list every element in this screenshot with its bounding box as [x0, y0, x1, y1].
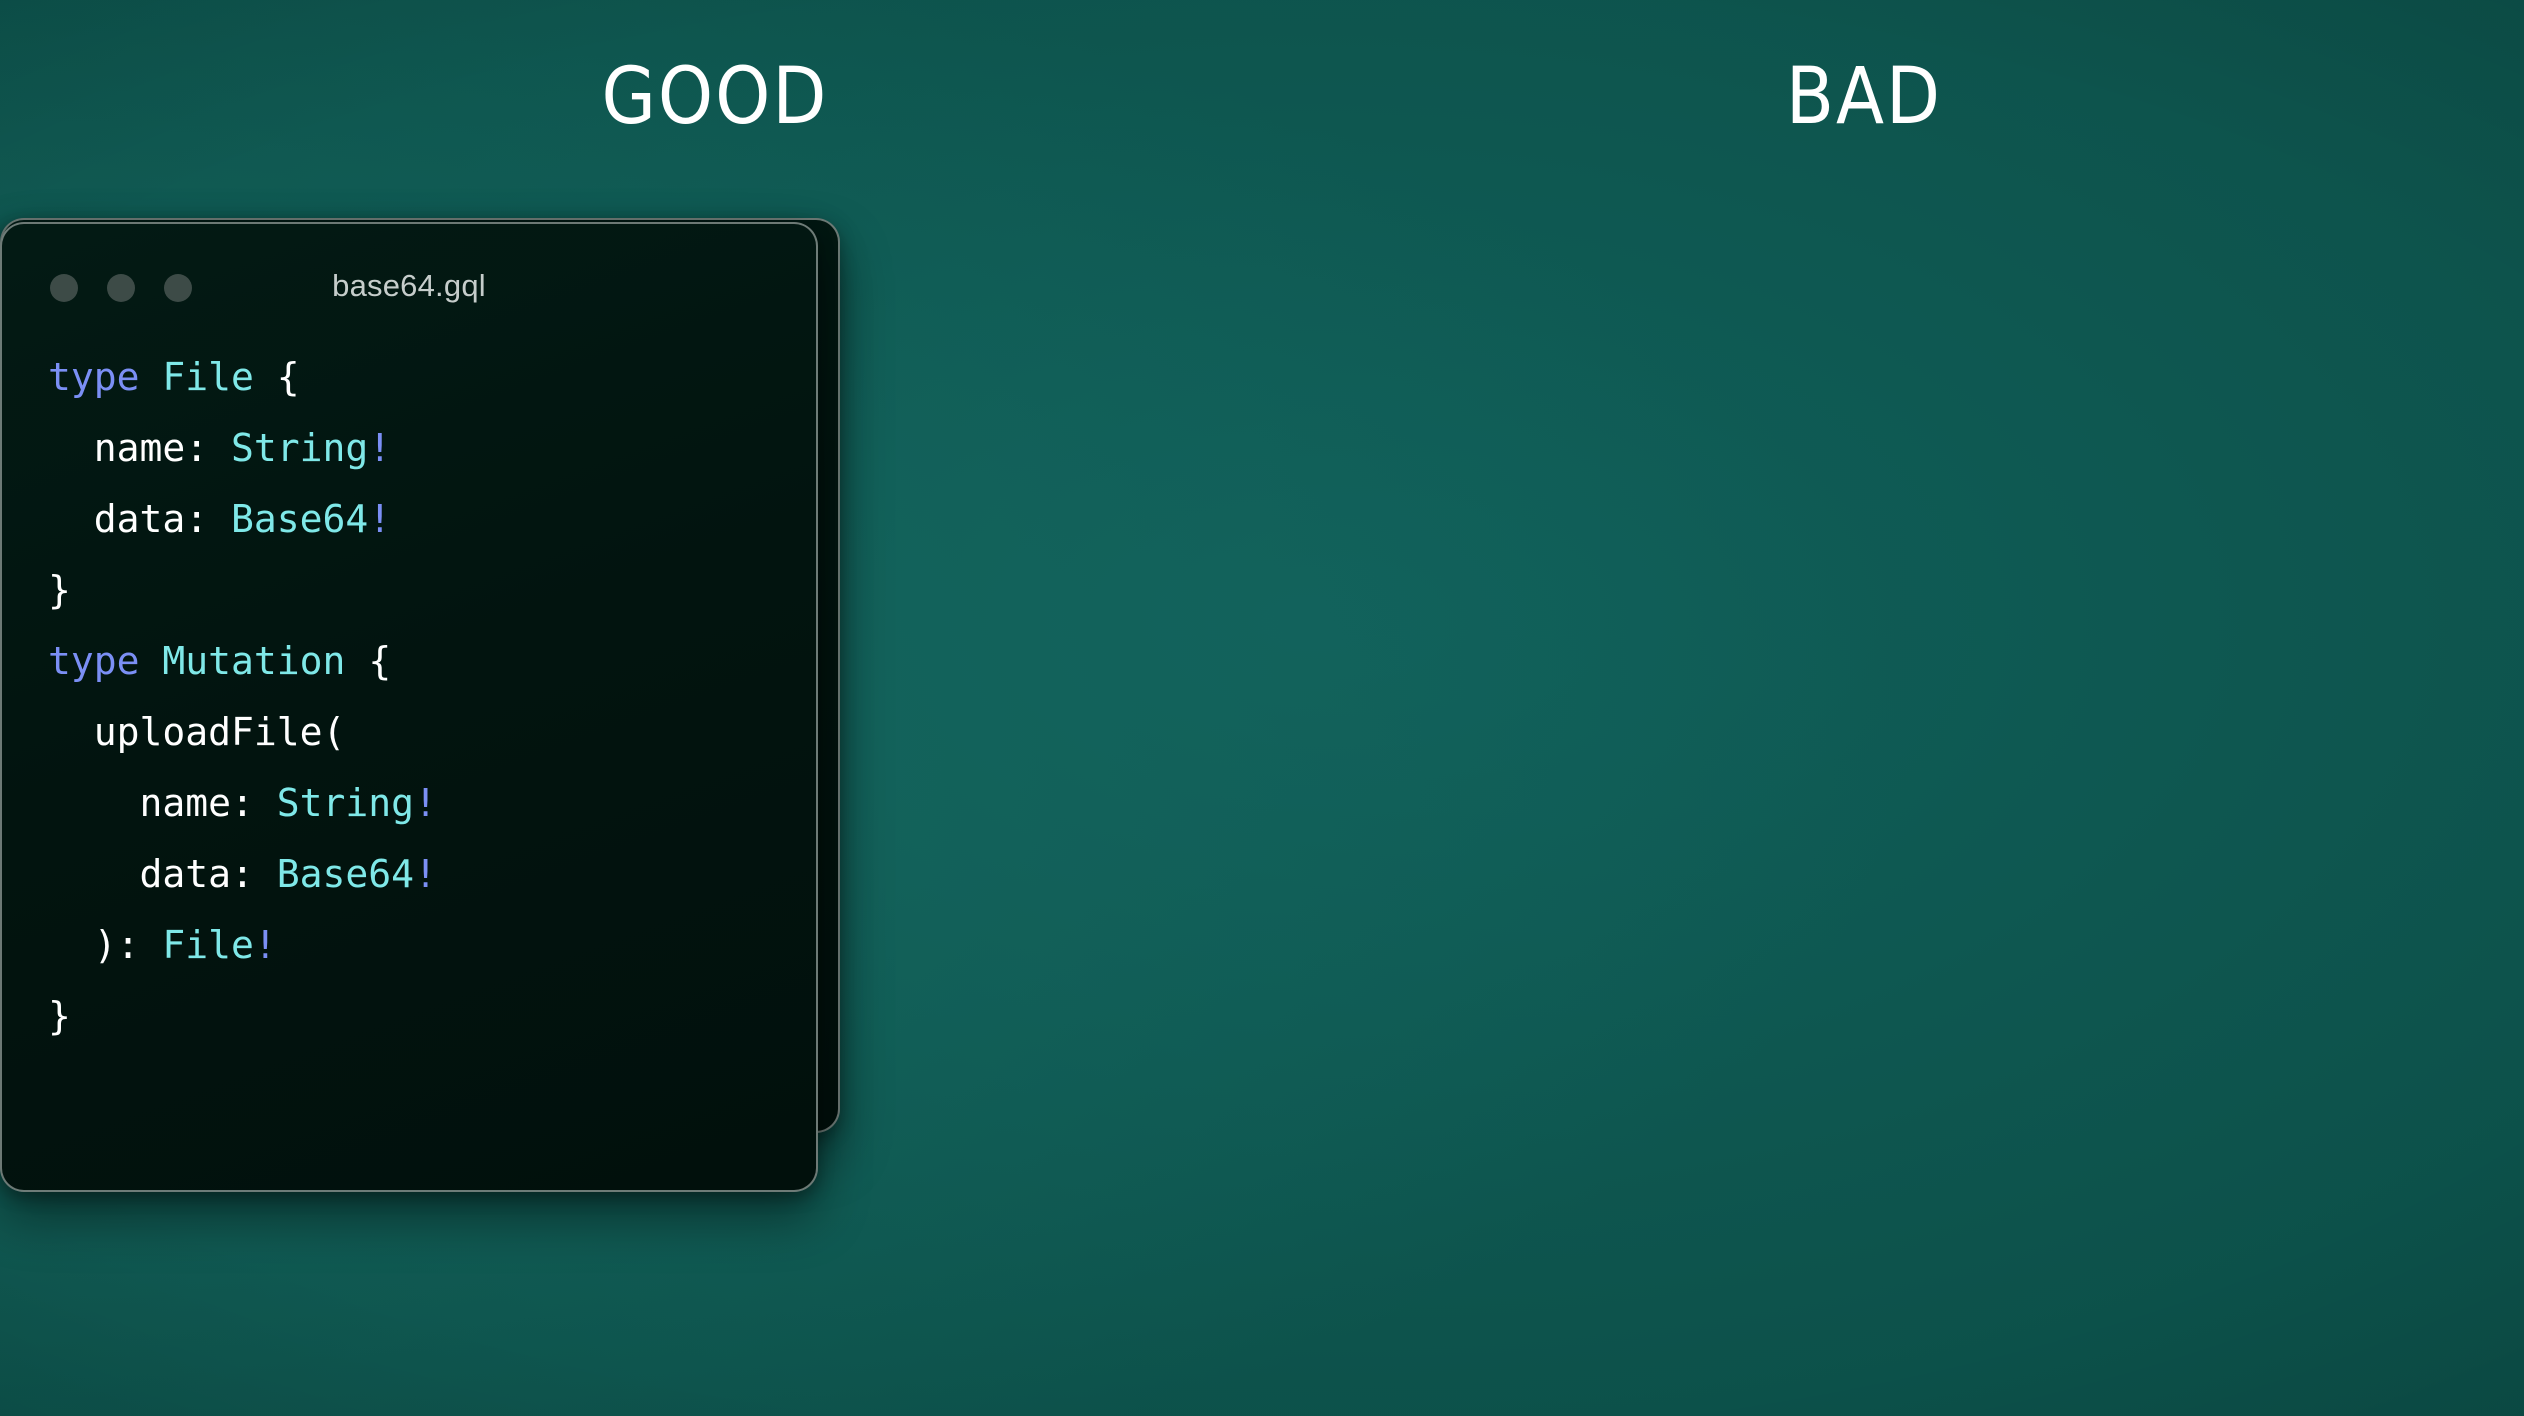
code-line: name: String! [48, 413, 796, 484]
code-token-plain: name: [48, 781, 254, 825]
code-token-type: Base64 [231, 497, 368, 541]
filename-label-bad: base64.gql [2, 268, 816, 304]
code-line: data: Base64! [48, 839, 796, 910]
code-token-plain [254, 781, 277, 825]
code-block-bad[interactable]: type File { name: String! data: Base64!}… [2, 342, 816, 1052]
code-token-plain: name: [48, 426, 208, 470]
code-token-punct: } [48, 994, 71, 1038]
code-token-type: Mutation [162, 639, 345, 683]
code-token-keyword: type [48, 639, 140, 683]
code-token-punct: { [254, 355, 300, 399]
code-token-punct: { [345, 639, 391, 683]
code-token-plain [140, 639, 163, 683]
code-token-bang: ! [254, 923, 277, 967]
code-token-bang: ! [414, 852, 437, 896]
code-token-punct: } [48, 568, 71, 612]
code-window-bad: base64.gql type File { name: String! dat… [0, 222, 818, 1192]
code-token-keyword: type [48, 355, 140, 399]
column-heading-good: GOOD [295, 58, 1135, 136]
code-token-plain [140, 355, 163, 399]
code-line: ): File! [48, 910, 796, 981]
code-token-type: Base64 [277, 852, 414, 896]
code-line: } [48, 981, 796, 1052]
code-token-plain [254, 852, 277, 896]
code-token-bang: ! [414, 781, 437, 825]
code-token-plain [208, 426, 231, 470]
code-token-plain: uploadFile( [48, 710, 345, 754]
code-token-type: String [277, 781, 414, 825]
code-line: type File { [48, 342, 796, 413]
code-token-type: File [162, 923, 254, 967]
titlebar-bad: base64.gql [2, 224, 816, 342]
code-token-plain [208, 497, 231, 541]
code-token-type: String [231, 426, 368, 470]
code-token-plain [140, 923, 163, 967]
code-token-plain: data: [48, 497, 208, 541]
code-token-type: File [162, 355, 254, 399]
column-heading-bad: BAD [1455, 58, 2273, 136]
code-line: uploadFile( [48, 697, 796, 768]
code-token-bang: ! [368, 497, 391, 541]
code-line: } [48, 555, 796, 626]
code-token-plain: data: [48, 852, 254, 896]
code-line: data: Base64! [48, 484, 796, 555]
code-line: type Mutation { [48, 626, 796, 697]
code-token-bang: ! [368, 426, 391, 470]
code-line: name: String! [48, 768, 796, 839]
code-token-plain: ): [48, 923, 140, 967]
